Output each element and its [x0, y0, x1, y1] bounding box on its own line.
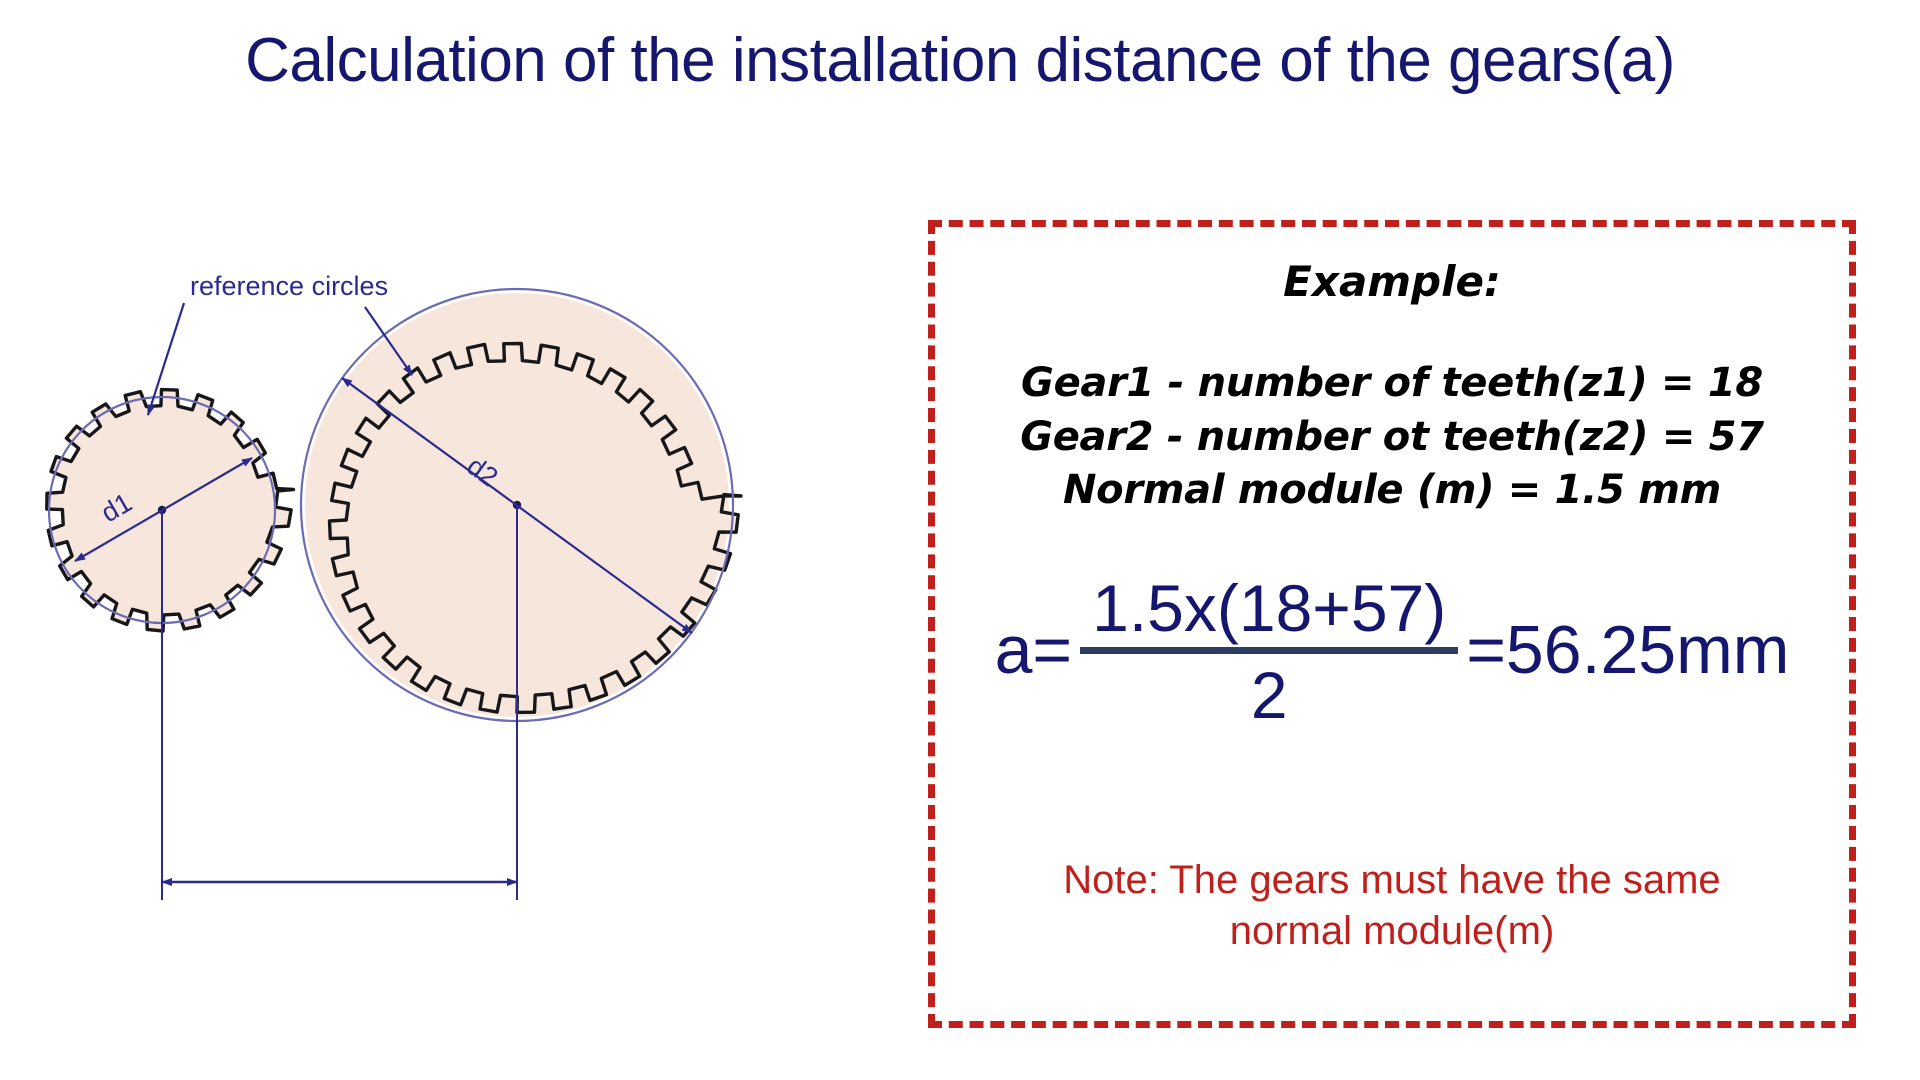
gear-2 — [301, 289, 741, 721]
reference-circles-label: reference circles — [190, 271, 388, 301]
given-normal-module: Normal module (m) = 1.5 mm — [935, 464, 1849, 518]
note-line-1: Note: The gears must have the same — [935, 855, 1849, 906]
given-values-list: Gear1 - number of teeth(z1) = 18 Gear2 -… — [935, 357, 1849, 518]
example-box: Example: Gear1 - number of teeth(z1) = 1… — [928, 220, 1856, 1028]
calculation-row: a= 1.5x(18+57) 2 =56.25mm — [935, 575, 1849, 728]
calculation-fraction-bar — [1080, 647, 1458, 654]
note-line-2: normal module(m) — [935, 906, 1849, 957]
calculation-fraction: 1.5x(18+57) 2 — [1080, 575, 1458, 728]
example-heading: Example: — [935, 257, 1849, 306]
calculation-lhs: a= — [995, 616, 1073, 688]
page-title: Calculation of the installation distance… — [0, 28, 1920, 93]
slide-canvas: Calculation of the installation distance… — [0, 0, 1920, 1080]
note-text: Note: The gears must have the same norma… — [935, 855, 1849, 957]
calculation-numerator: 1.5x(18+57) — [1080, 575, 1458, 647]
gear-diagram: reference circles d1 d2 a= d1+d2 2 = m(z… — [20, 255, 900, 1015]
gear-1 — [47, 390, 294, 631]
given-gear2-teeth: Gear2 - number ot teeth(z2) = 57 — [935, 411, 1849, 465]
gear-1-body — [47, 390, 294, 631]
calculation-denominator: 2 — [1239, 654, 1300, 728]
given-gear1-teeth: Gear1 - number of teeth(z1) = 18 — [935, 357, 1849, 411]
calculation-result: =56.25mm — [1466, 616, 1789, 688]
gear-diagram-svg: reference circles d1 d2 — [20, 255, 900, 1015]
